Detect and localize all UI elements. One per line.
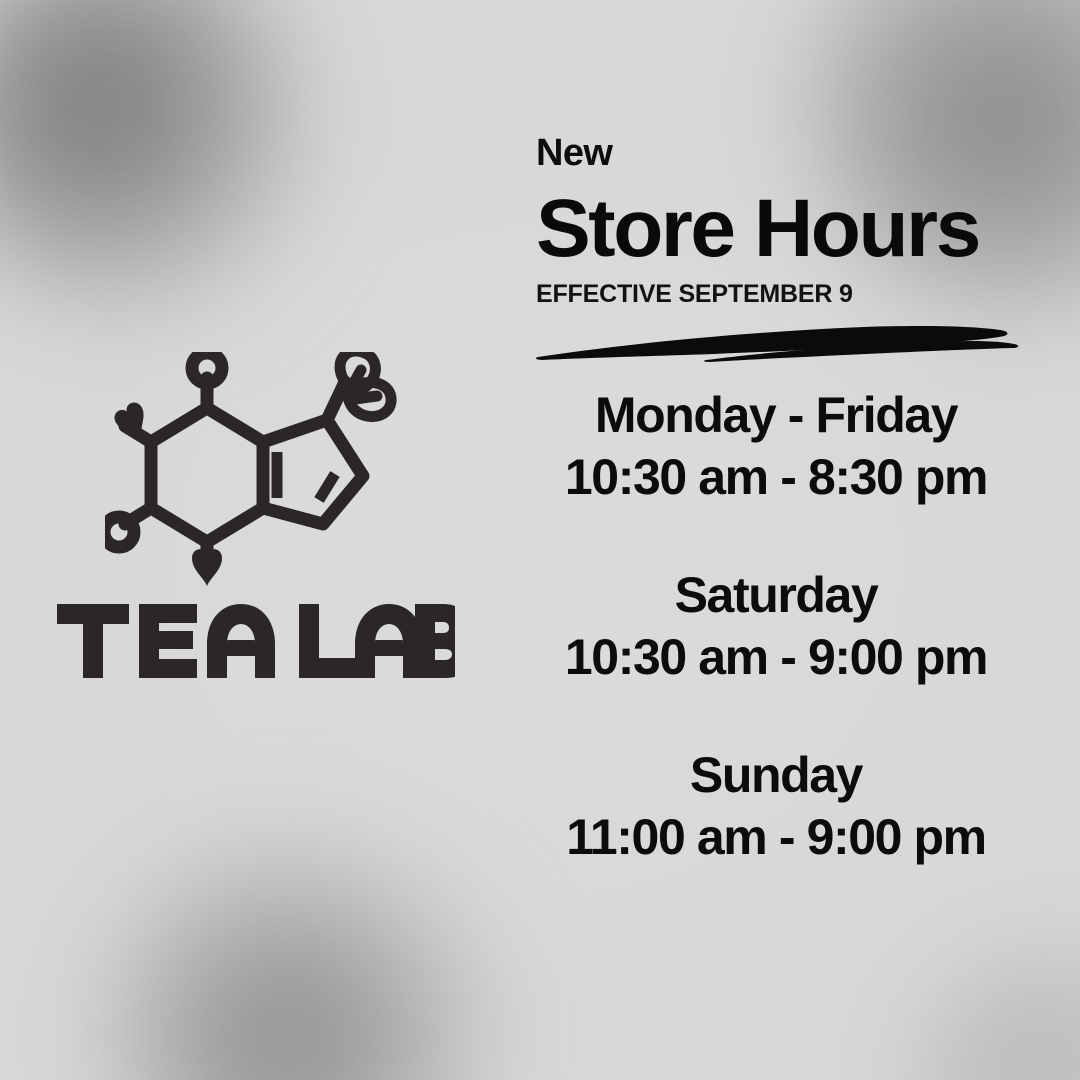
hours-row: Sunday 11:00 am - 9:00 pm <box>516 746 1036 866</box>
brand-wordmark <box>55 600 455 680</box>
hours-time-range: 11:00 am - 9:00 pm <box>516 808 1036 866</box>
swoosh-divider-icon <box>534 316 1024 364</box>
hours-day-label: Monday - Friday <box>516 386 1036 444</box>
hours-day-label: Saturday <box>516 566 1036 624</box>
hours-time-range: 10:30 am - 8:30 pm <box>516 448 1036 506</box>
molecule-icon <box>105 352 405 592</box>
hours-time-range: 10:30 am - 9:00 pm <box>516 628 1036 686</box>
headline-block: New Store Hours EFFECTIVE SEPTEMBER 9 <box>536 134 1026 307</box>
hours-row: Monday - Friday 10:30 am - 8:30 pm <box>516 386 1036 506</box>
page-title: Store Hours <box>536 188 1026 270</box>
background-blob-bottom-left <box>90 830 510 1080</box>
hours-list: Monday - Friday 10:30 am - 8:30 pm Satur… <box>516 386 1036 866</box>
background-blob-top-left <box>0 0 320 320</box>
hours-day-label: Sunday <box>516 746 1036 804</box>
effective-date-text: EFFECTIVE SEPTEMBER 9 <box>536 282 1026 307</box>
brand-logo <box>55 352 455 692</box>
hours-row: Saturday 10:30 am - 9:00 pm <box>516 566 1036 686</box>
store-hours-poster: New Store Hours EFFECTIVE SEPTEMBER 9 Mo… <box>0 0 1080 1080</box>
kicker-text: New <box>536 134 1026 172</box>
background-blob-bottom-right <box>900 940 1080 1080</box>
